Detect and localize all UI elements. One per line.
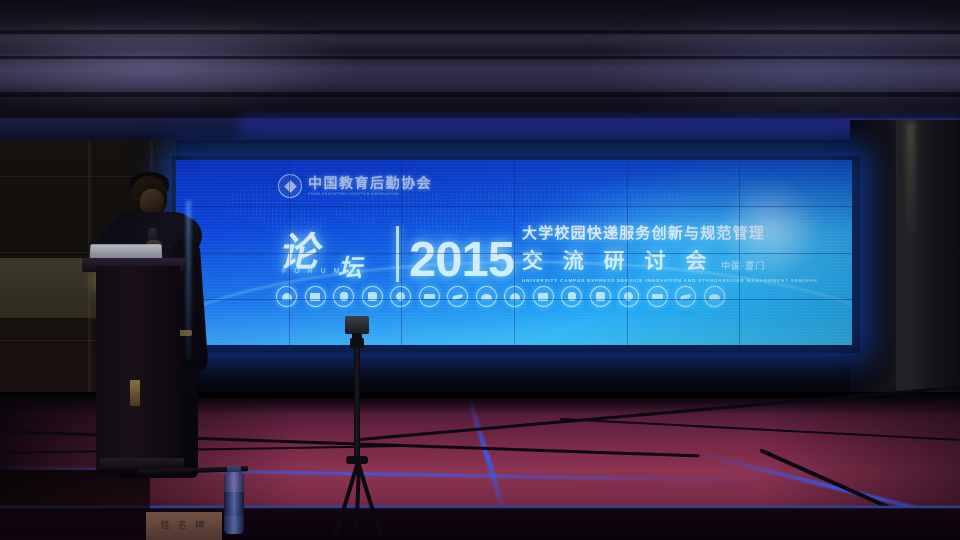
led-video-wall[interactable]: 中国教育后勤协会 CHINA EDUCATION LOGISTICS ASSOC…	[176, 160, 852, 345]
screen-vignette	[176, 160, 852, 345]
podium	[96, 266, 180, 474]
conference-hall-scene: 中国教育后勤协会 CHINA EDUCATION LOGISTICS ASSOC…	[0, 0, 960, 540]
tripod-column	[354, 346, 360, 464]
ceiling-beam	[0, 92, 960, 97]
right-column-highlight	[906, 122, 915, 242]
foreground-shadow	[0, 470, 150, 540]
ceiling-light-wash-right	[580, 10, 960, 120]
bottle-label	[224, 492, 244, 516]
speaker-rim-light	[186, 200, 191, 360]
ceiling-beam	[0, 56, 960, 59]
podium-emblem	[130, 380, 140, 406]
video-camera[interactable]	[345, 316, 369, 334]
ceiling-beam	[0, 30, 960, 34]
ceiling	[0, 0, 960, 128]
name-placard-text: 姓 名 牌	[150, 518, 218, 531]
speaker-wristwatch	[178, 330, 192, 336]
